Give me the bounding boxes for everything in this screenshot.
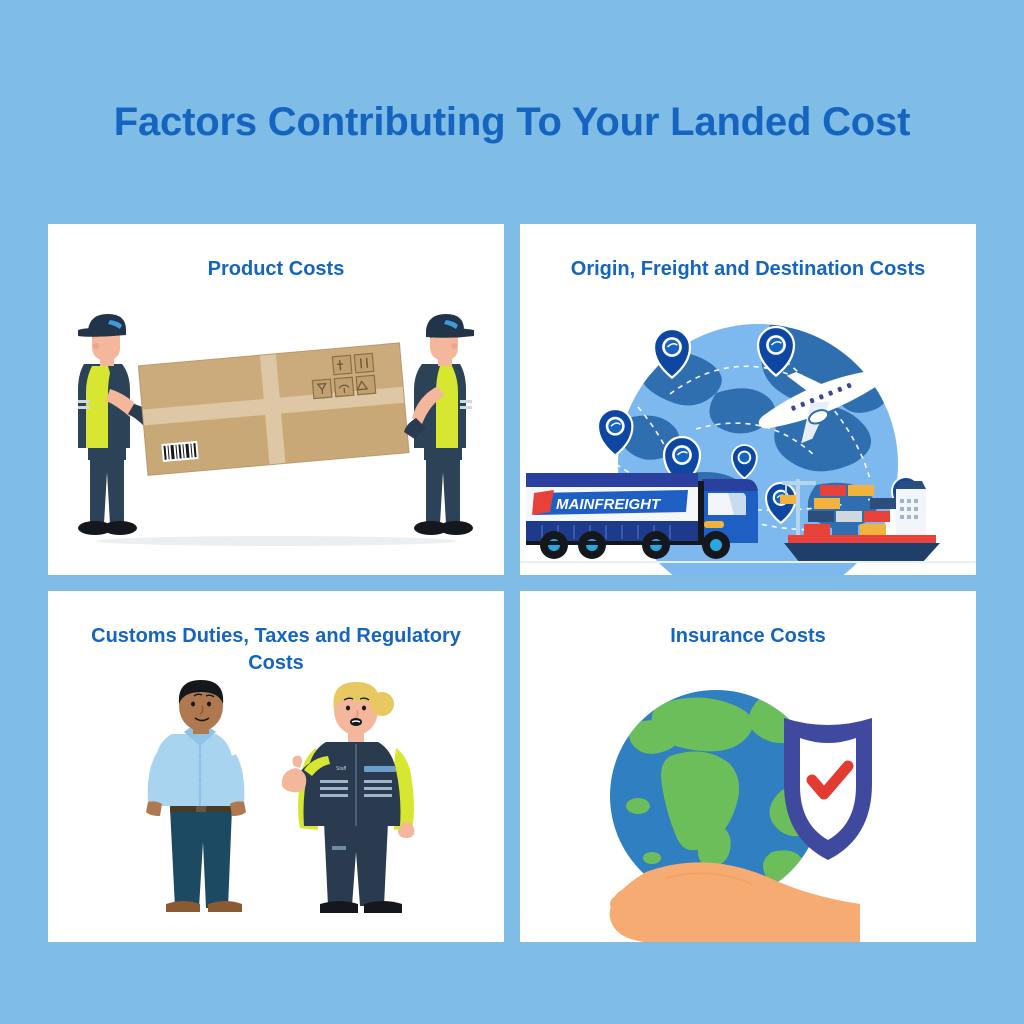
person-customer: [146, 680, 246, 912]
mainfreight-truck: MAINFREIGHT: [526, 473, 758, 559]
illustration-hand-globe-shield: [520, 650, 976, 942]
card-title-product-costs: Product Costs: [184, 256, 369, 283]
worker-left: [78, 314, 154, 535]
truck-logo-text: MAINFREIGHT: [556, 496, 662, 513]
card-title-insurance-costs: Insurance Costs: [646, 623, 850, 650]
illustration-customer-and-staff: Staff: [48, 677, 504, 942]
card-product-costs[interactable]: Product Costs: [48, 224, 504, 575]
infographic-page: Factors Contributing To Your Landed Cost…: [0, 0, 1024, 1024]
card-title-customs-duties: Customs Duties, Taxes and Regulatory Cos…: [66, 623, 486, 677]
freight-globe-svg: MAINFREIGHT: [520, 283, 976, 575]
open-hand: [610, 862, 860, 942]
factors-grid: Product Costs: [48, 224, 976, 942]
card-title-origin-freight-destination: Origin, Freight and Destination Costs: [547, 256, 949, 283]
ground-line: [520, 561, 976, 563]
illustration-globe-truck-plane-ship: MAINFREIGHT: [520, 283, 976, 575]
workers-box-svg: [48, 283, 504, 575]
card-origin-freight-destination-costs[interactable]: Origin, Freight and Destination Costs: [520, 224, 976, 575]
svg-text:Staff: Staff: [336, 766, 347, 772]
worker-right: [404, 314, 474, 535]
insurance-globe-svg: [520, 650, 976, 942]
cardboard-box: [138, 343, 409, 475]
person-staff: Staff: [282, 682, 415, 913]
customs-people-svg: Staff: [48, 677, 504, 942]
card-insurance-costs[interactable]: Insurance Costs: [520, 591, 976, 942]
illustration-two-workers-carrying-box: [48, 283, 504, 575]
hair-bun: [370, 692, 394, 716]
card-customs-duties-taxes-regulatory-costs[interactable]: Customs Duties, Taxes and Regulatory Cos…: [48, 591, 504, 942]
page-title: Factors Contributing To Your Landed Cost: [0, 100, 1024, 145]
ground-shadow: [96, 536, 456, 546]
barcode: [161, 441, 198, 462]
thumbs-up-hand: [282, 756, 307, 793]
